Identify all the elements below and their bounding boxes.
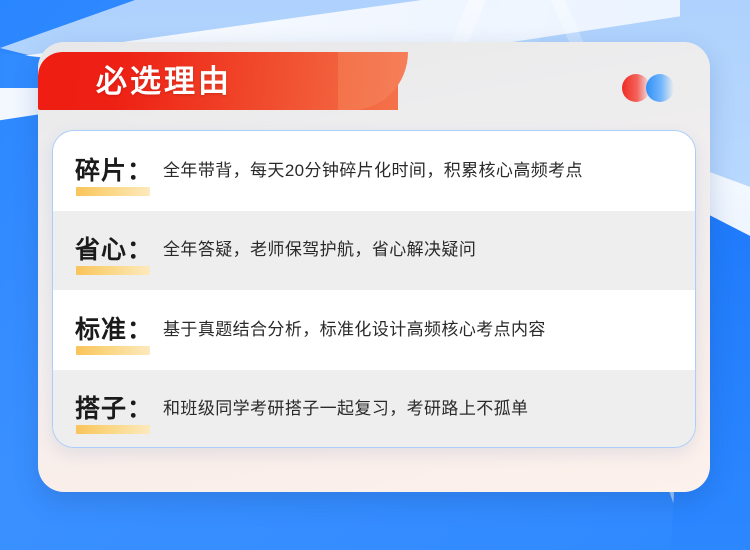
reason-term: 省心： — [75, 236, 153, 264]
reason-term: 标准： — [75, 316, 153, 344]
list-item: 搭子： 和班级同学考研搭子一起复习，考研路上不孤单 — [53, 370, 695, 449]
reason-term-wrap: 碎片： — [75, 156, 153, 186]
term-underline — [76, 266, 150, 275]
term-underline — [76, 346, 150, 355]
banner-title: 必选理由 — [96, 60, 232, 104]
decorative-dots — [622, 74, 684, 102]
list-item: 省心： 全年答疑，老师保驾护航，省心解决疑问 — [53, 211, 695, 291]
reason-term-wrap: 省心： — [75, 235, 153, 265]
list-item: 标准： 基于真题结合分析，标准化设计高频核心考点内容 — [53, 290, 695, 370]
reason-description: 全年带背，每天20分钟碎片化时间，积累核心高频考点 — [163, 159, 583, 183]
reason-description: 基于真题结合分析，标准化设计高频核心考点内容 — [163, 318, 546, 342]
reason-term: 碎片： — [75, 157, 153, 185]
blue-dot-icon — [646, 74, 674, 102]
reason-description: 和班级同学考研搭子一起复习，考研路上不孤单 — [163, 397, 528, 421]
reason-term: 搭子： — [75, 395, 153, 423]
reason-description: 全年答疑，老师保驾护航，省心解决疑问 — [163, 238, 476, 262]
poster-stage: 必选理由 碎片： 全年带背，每天20分钟碎片化时间，积累核心高频考点 省心： 全… — [0, 0, 750, 550]
reason-list-card: 碎片： 全年带背，每天20分钟碎片化时间，积累核心高频考点 省心： 全年答疑，老… — [52, 130, 696, 448]
term-underline — [76, 425, 150, 434]
reason-term-wrap: 搭子： — [75, 394, 153, 424]
term-underline — [76, 187, 150, 196]
reason-term-wrap: 标准： — [75, 315, 153, 345]
list-item: 碎片： 全年带背，每天20分钟碎片化时间，积累核心高频考点 — [53, 131, 695, 211]
